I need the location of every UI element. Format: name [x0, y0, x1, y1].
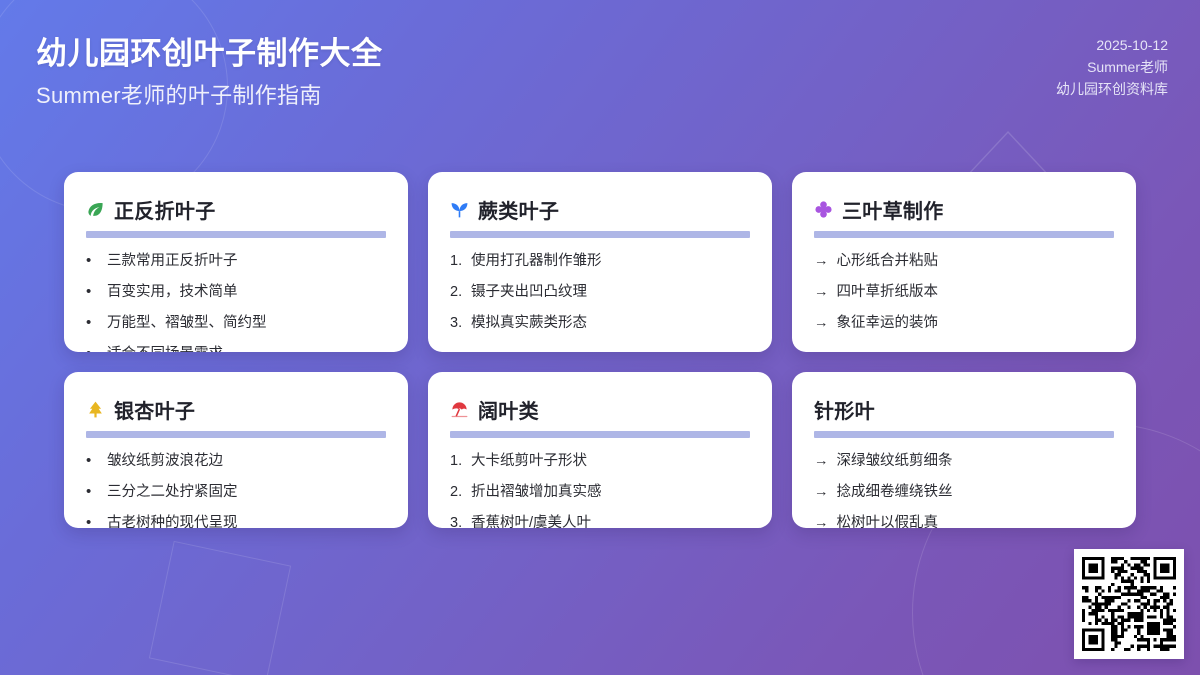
leaf-icon — [86, 200, 105, 219]
list-item: →松树叶以假乱真 — [814, 513, 1114, 528]
tree-icon — [86, 400, 105, 419]
list-marker: • — [86, 451, 99, 471]
topic-card[interactable]: 蕨类叶子1.使用打孔器制作雏形2.镊子夹出凹凸纹理3.模拟真实蕨类形态 — [428, 172, 772, 352]
list-item-text: 适合不同场景需求 — [107, 344, 386, 352]
list-marker: • — [86, 344, 99, 352]
beach-umbrella-icon — [450, 400, 469, 419]
list-item-text: 松树叶以假乱真 — [837, 513, 1115, 528]
card-underline — [814, 231, 1114, 238]
list-item: 2.镊子夹出凹凸纹理 — [450, 282, 750, 302]
list-marker: 2. — [450, 482, 463, 502]
card-underline — [450, 231, 750, 238]
card-header: 银杏叶子 — [86, 394, 386, 424]
list-item-text: 百变实用，技术简单 — [107, 282, 386, 302]
card-header: 三叶草制作 — [814, 194, 1114, 224]
list-marker: 3. — [450, 513, 463, 528]
list-item-text: 三分之二处拧紧固定 — [107, 482, 386, 502]
list-item: •百变实用，技术简单 — [86, 282, 386, 302]
list-item-text: 使用打孔器制作雏形 — [471, 251, 750, 271]
list-marker: 1. — [450, 251, 463, 271]
list-item: 2.折出褶皱增加真实感 — [450, 482, 750, 502]
card-grid: 正反折叶子•三款常用正反折叶子•百变实用，技术简单•万能型、褶皱型、简约型•适合… — [64, 172, 1136, 528]
list-item-text: 香蕉树叶/虞美人叶 — [471, 513, 750, 528]
list-marker: → — [814, 313, 829, 333]
card-header: 蕨类叶子 — [450, 194, 750, 224]
list-item-text: 象征幸运的装饰 — [837, 313, 1115, 333]
meta-author: Summer老师 — [1056, 56, 1168, 78]
card-underline — [86, 431, 386, 438]
qr-code-image — [1082, 557, 1176, 651]
list-item-text: 捻成细卷缠绕铁丝 — [837, 482, 1115, 502]
card-underline — [450, 431, 750, 438]
list-item: →象征幸运的装饰 — [814, 313, 1114, 333]
list-item: →捻成细卷缠绕铁丝 — [814, 482, 1114, 502]
list-marker: → — [814, 251, 829, 271]
list-item: •古老树种的现代呈现 — [86, 513, 386, 528]
list-item-text: 四叶草折纸版本 — [837, 282, 1115, 302]
list-item-text: 古老树种的现代呈现 — [107, 513, 386, 528]
decorative-square — [149, 541, 291, 675]
list-marker: → — [814, 482, 829, 502]
list-marker: → — [814, 451, 829, 471]
card-list: →深绿皱纹纸剪细条→捻成细卷缠绕铁丝→松树叶以假乱真 — [814, 451, 1114, 528]
list-item: •适合不同场景需求 — [86, 344, 386, 352]
header-meta: 2025-10-12 Summer老师 幼儿园环创资料库 — [1056, 34, 1168, 100]
slide-header: 幼儿园环创叶子制作大全 Summer老师的叶子制作指南 2025-10-12 S… — [0, 0, 1200, 130]
clover-icon — [814, 200, 833, 219]
list-item: 3.模拟真实蕨类形态 — [450, 313, 750, 333]
list-marker: 1. — [450, 451, 463, 471]
card-header: 阔叶类 — [450, 394, 750, 424]
list-item-text: 万能型、褶皱型、简约型 — [107, 313, 386, 333]
list-item-text: 深绿皱纹纸剪细条 — [837, 451, 1115, 471]
list-item: 3.香蕉树叶/虞美人叶 — [450, 513, 750, 528]
slide-canvas: 幼儿园环创叶子制作大全 Summer老师的叶子制作指南 2025-10-12 S… — [0, 0, 1200, 675]
list-item-text: 心形纸合并粘贴 — [837, 251, 1115, 271]
list-marker: • — [86, 482, 99, 502]
qr-code[interactable] — [1074, 549, 1184, 659]
seedling-icon — [450, 200, 469, 219]
list-marker: 3. — [450, 313, 463, 333]
card-header: 针形叶 — [814, 394, 1114, 424]
topic-card[interactable]: 正反折叶子•三款常用正反折叶子•百变实用，技术简单•万能型、褶皱型、简约型•适合… — [64, 172, 408, 352]
list-marker: • — [86, 313, 99, 333]
list-marker: → — [814, 282, 829, 302]
topic-card[interactable]: 阔叶类1.大卡纸剪叶子形状2.折出褶皱增加真实感3.香蕉树叶/虞美人叶 — [428, 372, 772, 528]
list-marker: 2. — [450, 282, 463, 302]
card-list: 1.大卡纸剪叶子形状2.折出褶皱增加真实感3.香蕉树叶/虞美人叶 — [450, 451, 750, 528]
page-title: 幼儿园环创叶子制作大全 — [36, 28, 383, 73]
page-subtitle: Summer老师的叶子制作指南 — [36, 78, 322, 110]
list-item: •三款常用正反折叶子 — [86, 251, 386, 271]
card-list: •三款常用正反折叶子•百变实用，技术简单•万能型、褶皱型、简约型•适合不同场景需… — [86, 251, 386, 352]
card-title: 正反折叶子 — [114, 195, 216, 224]
topic-card[interactable]: 三叶草制作→心形纸合并粘贴→四叶草折纸版本→象征幸运的装饰 — [792, 172, 1136, 352]
card-title: 阔叶类 — [478, 395, 539, 424]
card-title: 针形叶 — [814, 395, 875, 424]
card-list: •皱纹纸剪波浪花边•三分之二处拧紧固定•古老树种的现代呈现 — [86, 451, 386, 528]
card-header: 正反折叶子 — [86, 194, 386, 224]
list-marker: • — [86, 251, 99, 271]
card-list: →心形纸合并粘贴→四叶草折纸版本→象征幸运的装饰 — [814, 251, 1114, 333]
list-item-text: 折出褶皱增加真实感 — [471, 482, 750, 502]
list-item-text: 三款常用正反折叶子 — [107, 251, 386, 271]
list-marker: • — [86, 513, 99, 528]
meta-source: 幼儿园环创资料库 — [1056, 78, 1168, 100]
card-underline — [86, 231, 386, 238]
meta-date: 2025-10-12 — [1056, 34, 1168, 56]
list-item-text: 模拟真实蕨类形态 — [471, 313, 750, 333]
card-list: 1.使用打孔器制作雏形2.镊子夹出凹凸纹理3.模拟真实蕨类形态 — [450, 251, 750, 333]
list-marker: • — [86, 282, 99, 302]
list-item-text: 大卡纸剪叶子形状 — [471, 451, 750, 471]
list-item: 1.大卡纸剪叶子形状 — [450, 451, 750, 471]
card-title: 三叶草制作 — [842, 195, 944, 224]
list-item-text: 皱纹纸剪波浪花边 — [107, 451, 386, 471]
list-item: →心形纸合并粘贴 — [814, 251, 1114, 271]
list-item: •万能型、褶皱型、简约型 — [86, 313, 386, 333]
list-item: •三分之二处拧紧固定 — [86, 482, 386, 502]
list-item-text: 镊子夹出凹凸纹理 — [471, 282, 750, 302]
card-title: 蕨类叶子 — [478, 195, 559, 224]
topic-card[interactable]: 针形叶→深绿皱纹纸剪细条→捻成细卷缠绕铁丝→松树叶以假乱真 — [792, 372, 1136, 528]
list-item: •皱纹纸剪波浪花边 — [86, 451, 386, 471]
list-marker: → — [814, 513, 829, 528]
card-title: 银杏叶子 — [114, 395, 195, 424]
list-item: 1.使用打孔器制作雏形 — [450, 251, 750, 271]
list-item: →四叶草折纸版本 — [814, 282, 1114, 302]
list-item: →深绿皱纹纸剪细条 — [814, 451, 1114, 471]
topic-card[interactable]: 银杏叶子•皱纹纸剪波浪花边•三分之二处拧紧固定•古老树种的现代呈现 — [64, 372, 408, 528]
card-underline — [814, 431, 1114, 438]
